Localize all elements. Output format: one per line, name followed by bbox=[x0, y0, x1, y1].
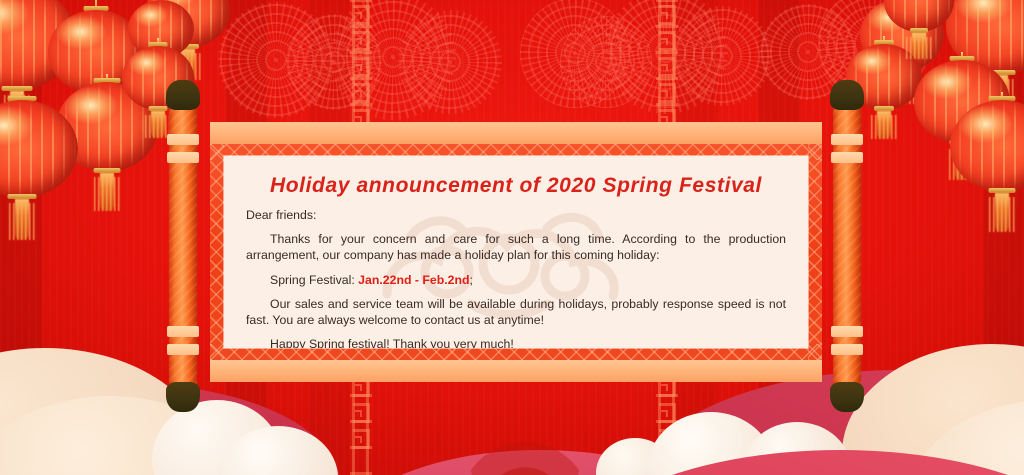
roller-ring bbox=[831, 134, 863, 145]
lantern-tassel bbox=[912, 33, 926, 59]
scroll-panel: Holiday announcement of 2020 Spring Fest… bbox=[210, 122, 822, 382]
roller-ring bbox=[167, 344, 199, 355]
scroll-roller-right bbox=[829, 72, 865, 418]
roller-ring bbox=[167, 326, 199, 337]
roller-cap-top bbox=[830, 80, 864, 110]
red-lantern-icon bbox=[0, 96, 78, 208]
festival-announcement-banner: Holiday announcement of 2020 Spring Fest… bbox=[0, 0, 1024, 475]
roller-ring bbox=[831, 326, 863, 337]
roller-ring bbox=[167, 134, 199, 145]
roller-cap-bottom bbox=[166, 382, 200, 412]
holiday-dates-value: Jan.22nd - Feb.2nd bbox=[358, 273, 469, 287]
holiday-label: Spring Festival: bbox=[270, 273, 358, 287]
lantern-body bbox=[950, 100, 1024, 192]
paragraph-one: Thanks for your concern and care for suc… bbox=[246, 231, 786, 263]
lantern-tassel bbox=[15, 199, 29, 240]
announcement-paper: Holiday announcement of 2020 Spring Fest… bbox=[224, 156, 808, 348]
chinese-scroll: Holiday announcement of 2020 Spring Fest… bbox=[165, 72, 865, 418]
scroll-frame: Holiday announcement of 2020 Spring Fest… bbox=[210, 144, 822, 360]
zigzag-pattern-right bbox=[808, 144, 822, 360]
red-lantern-icon bbox=[884, 0, 954, 42]
lantern-body bbox=[0, 100, 78, 198]
roller-ring bbox=[831, 152, 863, 163]
lantern-tassel bbox=[151, 111, 165, 138]
holiday-suffix: ; bbox=[470, 273, 473, 287]
scroll-band-top bbox=[210, 122, 822, 144]
red-lantern-icon bbox=[950, 96, 1024, 202]
scroll-band-bottom bbox=[210, 360, 822, 382]
lantern-tassel bbox=[995, 193, 1009, 232]
salutation: Dear friends: bbox=[246, 207, 786, 223]
scroll-roller-left bbox=[165, 72, 201, 418]
lantern-tassel bbox=[877, 111, 891, 139]
roller-ring bbox=[167, 152, 199, 163]
zigzag-pattern-left bbox=[210, 144, 224, 360]
paragraph-two: Our sales and service team will be avail… bbox=[246, 296, 786, 328]
holiday-dates-line: Spring Festival: Jan.22nd - Feb.2nd; bbox=[246, 272, 786, 288]
roller-cap-bottom bbox=[830, 382, 864, 412]
page-title: Holiday announcement of 2020 Spring Fest… bbox=[246, 174, 786, 198]
lantern-tassel bbox=[100, 173, 114, 211]
paragraph-three: Happy Spring festival! Thank you very mu… bbox=[246, 336, 786, 348]
roller-cap-top bbox=[166, 80, 200, 110]
roller-ring bbox=[831, 344, 863, 355]
